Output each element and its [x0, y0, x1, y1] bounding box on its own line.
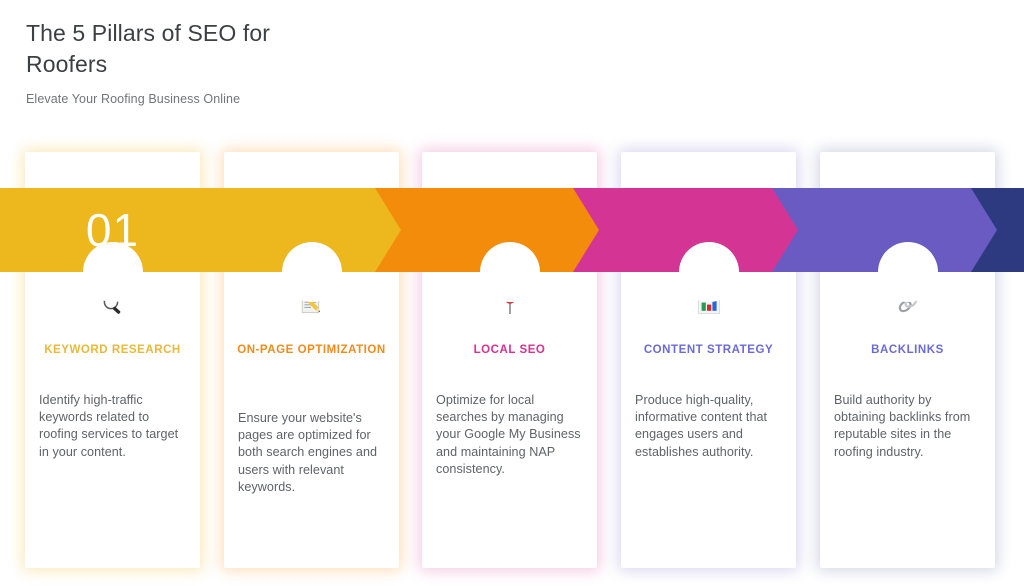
card-title: BACKLINKS [832, 342, 983, 360]
card-description: Optimize for local searches by managing … [436, 392, 586, 478]
header: The 5 Pillars of SEO for Roofers Elevate… [26, 18, 546, 108]
page-subtitle: Elevate Your Roofing Business Online [26, 90, 546, 108]
pillar-card[interactable]: LOCAL SEOOptimize for local searches by … [422, 152, 597, 568]
pillar-card[interactable]: ON-PAGE OPTIMIZATIONEnsure your website'… [224, 152, 399, 568]
bar-chart-icon [621, 288, 796, 318]
map-pin-icon [422, 288, 597, 318]
memo-pencil-icon [224, 288, 399, 318]
card-surface [820, 152, 995, 568]
pillar-card[interactable]: CONTENT STRATEGYProduce high-quality, in… [621, 152, 796, 568]
card-surface [422, 152, 597, 568]
magnifying-glass-icon [25, 288, 200, 318]
card-description: Produce high-quality, informative conten… [635, 392, 785, 461]
card-description: Ensure your website's pages are optimize… [238, 410, 388, 496]
page-title: The 5 Pillars of SEO for Roofers [26, 18, 276, 80]
card-title: CONTENT STRATEGY [633, 342, 784, 360]
card-surface [25, 152, 200, 568]
card-description: Identify high-traffic keywords related t… [39, 392, 189, 461]
card-surface [621, 152, 796, 568]
card-description: Build authority by obtaining backlinks f… [834, 392, 984, 461]
chain-link-icon [820, 288, 995, 318]
pillar-card[interactable]: BACKLINKSBuild authority by obtaining ba… [820, 152, 995, 568]
card-title: ON-PAGE OPTIMIZATION [236, 342, 387, 360]
card-title: KEYWORD RESEARCH [37, 342, 188, 360]
pillar-card[interactable]: KEYWORD RESEARCHIdentify high-traffic ke… [25, 152, 200, 568]
card-title: LOCAL SEO [434, 342, 585, 360]
card-surface [224, 152, 399, 568]
pillar-cards-row: KEYWORD RESEARCHIdentify high-traffic ke… [0, 152, 1024, 572]
